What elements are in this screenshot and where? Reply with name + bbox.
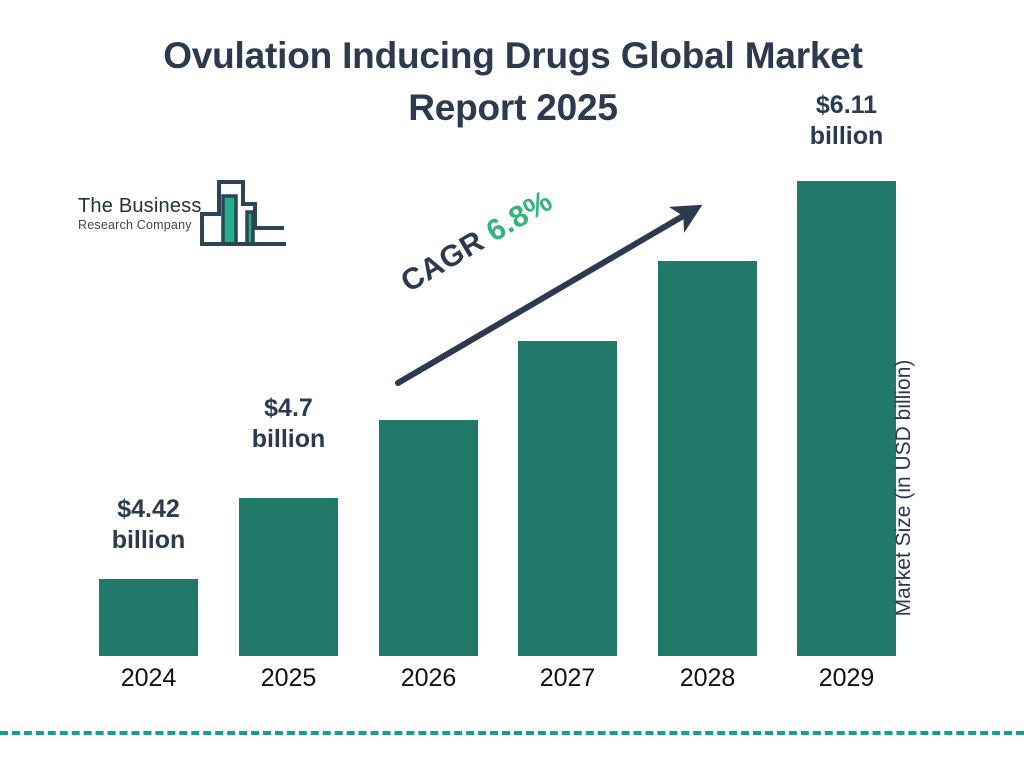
bar-value-unit-2024: billion <box>112 526 186 554</box>
chart-canvas: Ovulation Inducing Drugs Global Market R… <box>0 0 1024 768</box>
bar-value-unit-2029: billion <box>810 122 884 150</box>
plot-area: $4.42 billion 2024 $4.7 billion 2025 202… <box>0 0 1024 768</box>
bar-value-label-2025: $4.7 billion <box>239 393 338 455</box>
bar-value-label-2024: $4.42 billion <box>99 494 198 556</box>
bar-value-amount-2029: $6.11 <box>816 91 877 119</box>
x-tick-2029: 2029 <box>797 663 896 693</box>
bar-2026 <box>379 420 478 656</box>
bar-2025 <box>239 498 338 656</box>
x-tick-2028: 2028 <box>658 663 757 693</box>
bar-2024 <box>99 579 198 656</box>
bar-value-label-2029: $6.11 billion <box>797 90 896 152</box>
bar-value-amount-2024: $4.42 <box>117 495 180 523</box>
footer-divider <box>0 731 1024 735</box>
y-axis-title: Market Size (in USD billion) <box>892 0 928 318</box>
x-tick-2026: 2026 <box>379 663 478 693</box>
bar-value-amount-2025: $4.7 <box>264 394 313 422</box>
y-axis-title-text: Market Size (in USD billion) <box>892 318 916 658</box>
bar-value-unit-2025: billion <box>252 425 326 453</box>
x-tick-2025: 2025 <box>239 663 338 693</box>
x-tick-2024: 2024 <box>99 663 198 693</box>
bar-2027 <box>518 341 617 656</box>
bar-2028 <box>658 261 757 656</box>
bar-2029 <box>797 181 896 656</box>
x-tick-2027: 2027 <box>518 663 617 693</box>
